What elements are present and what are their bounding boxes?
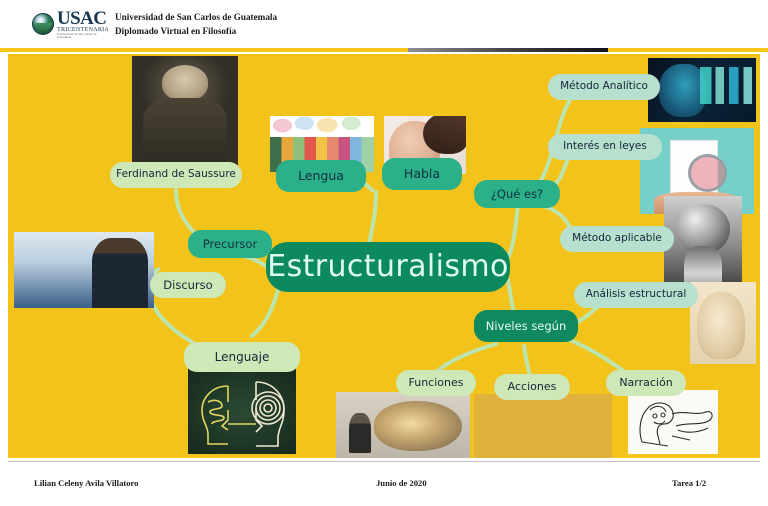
- usac-subtagline: Universidad de San Carlos de Guatemala: [57, 33, 110, 39]
- header-accent-bar-right: [608, 48, 768, 52]
- image-digital-head-with-data-panels: [648, 58, 756, 122]
- node-funciones[interactable]: Funciones: [396, 370, 476, 396]
- node-label: Precursor: [203, 238, 257, 250]
- header-accent-bar-left: [0, 48, 408, 52]
- image-ink-sketch-of-storyteller: [628, 390, 718, 454]
- node-label: Análisis estructural: [586, 289, 687, 300]
- image-sepia-head-with-colored-brain-regions: [690, 282, 756, 364]
- node-label: Acciones: [508, 381, 557, 393]
- node-habla[interactable]: Habla: [382, 158, 462, 190]
- image-person-pushing-large-cracked-boulder: [336, 392, 470, 458]
- node-label: ¿Qué es?: [491, 188, 543, 200]
- usac-seal-icon: [32, 13, 54, 35]
- node-analisis-estructural[interactable]: Análisis estructural: [574, 282, 698, 308]
- node-metodo-aplicable[interactable]: Método aplicable: [560, 226, 674, 252]
- image-hand-holding-reflecting-sphere: [664, 196, 742, 292]
- node-label: Funciones: [409, 377, 464, 389]
- node-label: Método aplicable: [572, 233, 662, 244]
- document-footer: Lilian Celeny Avila Villatoro Junio de 2…: [0, 470, 768, 498]
- footer-task: Tarea 1/2: [672, 478, 706, 488]
- node-label: Lengua: [298, 169, 344, 182]
- node-label: Ferdinand de Saussure: [116, 169, 236, 180]
- node-interes-en-leyes[interactable]: Interés en leyes: [548, 134, 662, 160]
- image-speaker-addressing-auditorium-audience: [14, 232, 154, 308]
- header-program-line: Diplomado Virtual en Filosofía: [115, 24, 277, 38]
- node-narracion[interactable]: Narración: [606, 370, 686, 396]
- node-lengua[interactable]: Lengua: [276, 160, 366, 192]
- node-acciones[interactable]: Acciones: [494, 374, 570, 400]
- usac-logo-text: USAC TRICENTENARIA Universidad de San Ca…: [57, 9, 110, 40]
- node-ferdinand-de-saussure[interactable]: Ferdinand de Saussure: [110, 162, 242, 188]
- node-discurso[interactable]: Discurso: [150, 272, 226, 298]
- header-accent-bar-gray: [408, 48, 608, 52]
- node-que-es[interactable]: ¿Qué es?: [474, 180, 560, 208]
- node-precursor[interactable]: Precursor: [188, 230, 272, 258]
- header-titles: Universidad de San Carlos de Guatemala D…: [115, 10, 277, 38]
- image-scattered-colorful-objects-on-sand: [474, 394, 612, 458]
- footer-date: Junio de 2020: [376, 478, 427, 488]
- header-university-line: Universidad de San Carlos de Guatemala: [115, 10, 277, 24]
- node-label: Lenguaje: [215, 351, 270, 364]
- node-niveles-segun[interactable]: Niveles según: [474, 310, 578, 342]
- node-label: Estructuralismo: [267, 251, 509, 283]
- node-center-estructuralismo[interactable]: Estructuralismo: [266, 242, 510, 292]
- node-label: Discurso: [163, 279, 212, 291]
- document-page: USAC TRICENTENARIA Universidad de San Ca…: [0, 0, 768, 506]
- node-metodo-analitico[interactable]: Método Analítico: [548, 74, 660, 100]
- node-lenguaje[interactable]: Lenguaje: [184, 342, 300, 372]
- node-label: Niveles según: [486, 320, 567, 332]
- usac-logo: USAC TRICENTENARIA Universidad de San Ca…: [32, 8, 110, 40]
- footer-divider: [8, 461, 760, 462]
- node-label: Narración: [619, 377, 672, 389]
- mindmap-canvas: Estructuralismo Ferdinand de Saussure Le…: [8, 54, 760, 458]
- image-two-head-outlines-tangled-and-spiral-lines: [188, 368, 296, 454]
- usac-acronym: USAC: [57, 9, 110, 28]
- node-label: Método Analítico: [560, 81, 648, 92]
- footer-author: Lilian Celeny Avila Villatoro: [34, 478, 138, 488]
- image-portrait-of-ferdinand-de-saussure: [132, 56, 238, 174]
- document-header: USAC TRICENTENARIA Universidad de San Ca…: [0, 0, 768, 48]
- node-label: Interés en leyes: [563, 141, 647, 152]
- node-label: Habla: [404, 167, 440, 180]
